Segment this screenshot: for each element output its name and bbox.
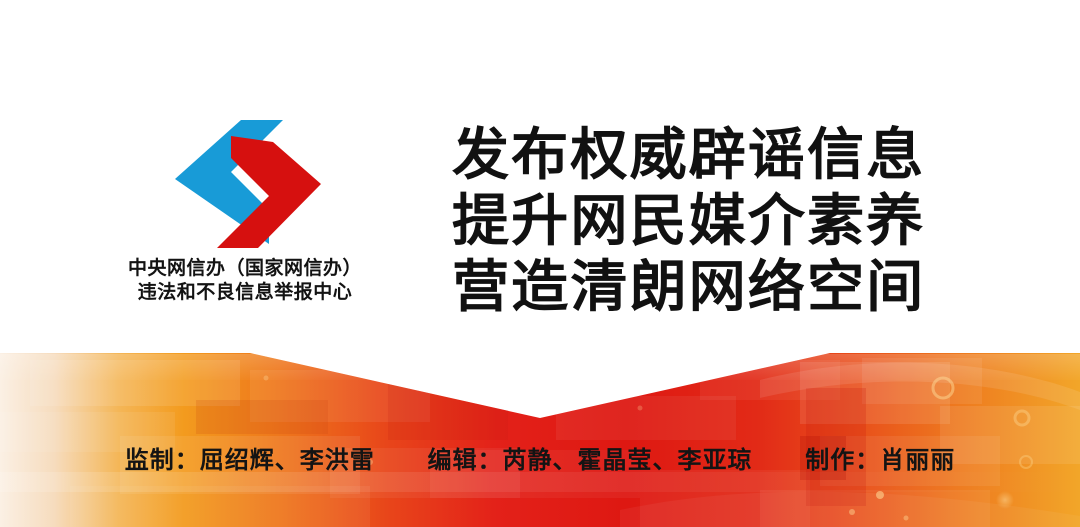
editor-names: 芮静、霍晶莹、李亚琼 [503,443,753,477]
poster-root: 中央网信办（国家网信办） 违法和不良信息举报中心 发布权威辟谣信息 提升网民媒介… [0,0,1080,527]
credits-line: 监制：屈绍辉、李洪雷 编辑：芮静、霍晶莹、李亚琼 制作：肖丽丽 [0,443,1080,477]
cac-report-center-logo-icon [173,118,323,250]
logo-caption-line-2: 违法和不良信息举报中心 [95,280,395,304]
logo-caption-line-1: 中央网信办（国家网信办） [95,256,395,280]
headline: 发布权威辟谣信息 提升网民媒介素养 营造清朗网络空间 [452,122,972,320]
headline-line-2: 提升网民媒介素养 [452,188,982,254]
bottom-banner [0,340,1080,527]
headline-line-3: 营造清朗网络空间 [452,254,982,320]
producer-label: 监制： [125,443,200,477]
logo-block: 中央网信办（国家网信办） 违法和不良信息举报中心 [95,118,395,318]
producer-names: 屈绍辉、李洪雷 [200,443,375,477]
logo-caption: 中央网信办（国家网信办） 违法和不良信息举报中心 [95,256,395,304]
designer-label: 制作： [805,443,880,477]
editor-label: 编辑： [428,443,503,477]
designer-names: 肖丽丽 [880,443,955,477]
headline-line-1: 发布权威辟谣信息 [452,122,982,188]
